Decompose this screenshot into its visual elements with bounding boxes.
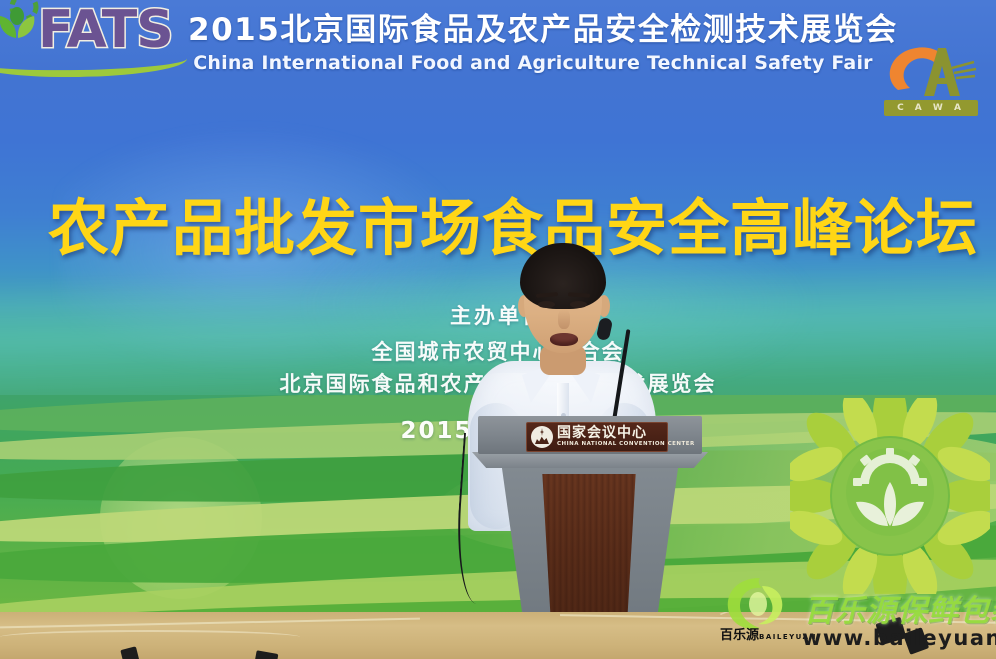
- ccnc-mountain-icon: [531, 426, 553, 448]
- watermark: 百乐源保鲜包装 百乐源BAILEYUAN www.baileyuan.cn: [712, 578, 996, 659]
- cawa-wheat-icon: [878, 38, 984, 108]
- sunflower-gear-emblem: [790, 398, 990, 594]
- podium-top: 国家会议中心 CHINA NATIONAL CONVENTION CENTER: [478, 416, 702, 454]
- cawa-wordmark: C A W A: [884, 100, 978, 116]
- cable-tape: [254, 650, 279, 659]
- speaker-eye-right: [570, 301, 587, 308]
- fats-logo: FATS: [0, 0, 178, 70]
- speaker-nose: [558, 309, 570, 329]
- fair-title-chinese: 2015北京国际食品及农产品安全检测技术展览会: [188, 14, 878, 47]
- venue-name-chinese: 国家会议中心: [557, 426, 695, 440]
- cable-tape: [120, 646, 139, 659]
- floor-cable: [0, 630, 300, 644]
- venue-name-plaque: 国家会议中心 CHINA NATIONAL CONVENTION CENTER: [526, 422, 668, 452]
- watermark-brand-chinese: 百乐源保鲜包装: [804, 586, 996, 630]
- fair-title-english: China International Food and Agriculture…: [188, 52, 878, 74]
- floor-seam: [0, 618, 420, 629]
- speaker-hair: [520, 243, 606, 309]
- speaker-eye-left: [538, 301, 555, 308]
- photo-canvas: FATS 2015北京国际食品及农产品安全检测技术展览会 China Inter…: [0, 0, 996, 659]
- podium-top-edge: [472, 452, 708, 468]
- venue-name-english: CHINA NATIONAL CONVENTION CENTER: [557, 442, 695, 448]
- speaker-mouth: [550, 333, 578, 346]
- watermark-badge-chinese: 百乐源: [720, 628, 759, 643]
- cawa-bar: C A W A: [884, 100, 978, 116]
- cawa-logo: C A W A: [878, 38, 984, 122]
- watermark-url: www.baileyuan.cn: [802, 626, 996, 650]
- fair-header: 2015北京国际食品及农产品安全检测技术展览会 China Internatio…: [188, 14, 878, 74]
